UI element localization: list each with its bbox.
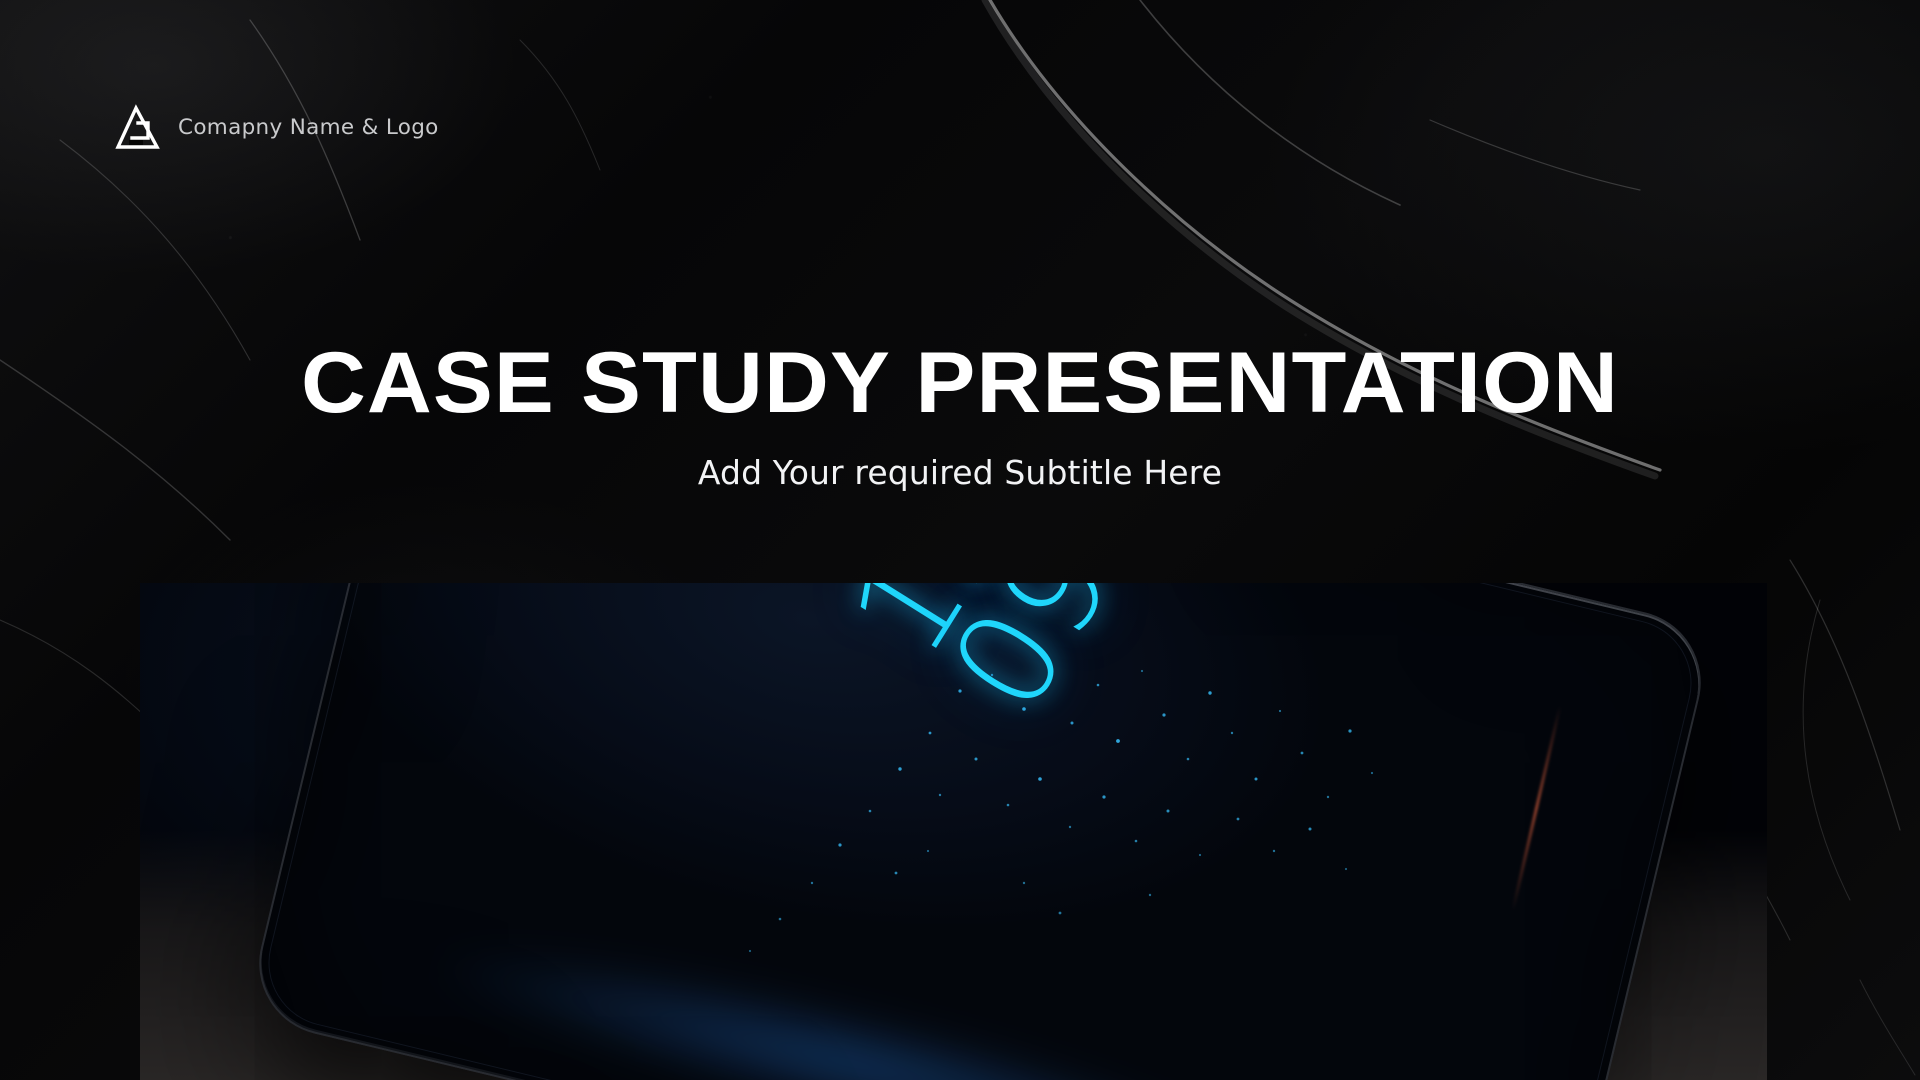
presentation-slide: Comapny Name & Logo CASE STUDY PRESENTAT… bbox=[0, 0, 1920, 1080]
page-subtitle: Add Your required Subtitle Here bbox=[0, 453, 1920, 492]
hero-photo: 12 09 TUE, MAY 9 98% bbox=[140, 583, 1767, 1080]
triangle-monogram-logo-icon bbox=[112, 104, 160, 150]
page-title: CASE STUDY PRESENTATION bbox=[0, 340, 1920, 426]
brand-lockup[interactable]: Comapny Name & Logo bbox=[112, 104, 439, 150]
brand-name-label: Comapny Name & Logo bbox=[178, 115, 439, 140]
headline-block: CASE STUDY PRESENTATION Add Your require… bbox=[0, 340, 1920, 492]
